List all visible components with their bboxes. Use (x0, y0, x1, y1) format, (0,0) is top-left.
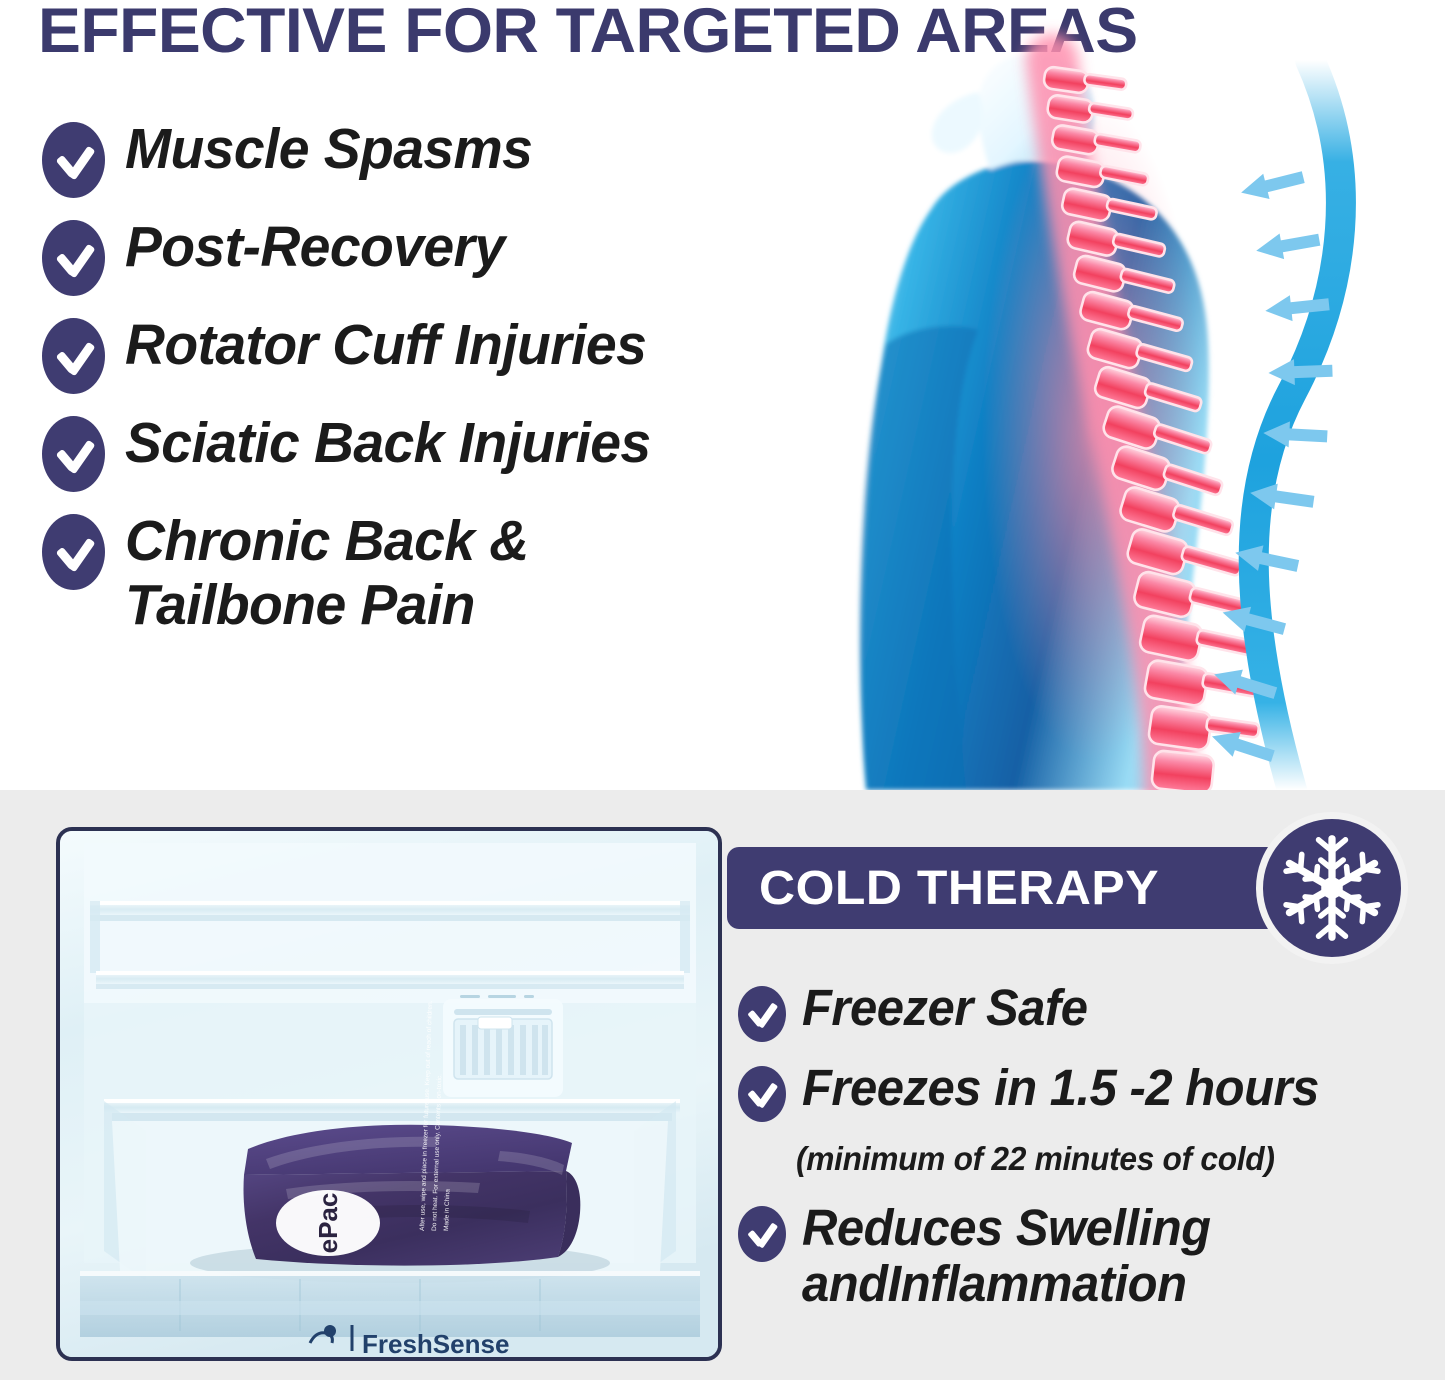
list-item: Chronic Back & Tailbone Pain (42, 510, 882, 638)
curve-band (1254, 60, 1341, 790)
cold-feature-list: Freezer Safe Freezes in 1.5 -2 hours (mi… (738, 980, 1438, 1312)
svg-text:Made in China: Made in China (443, 1189, 451, 1232)
spine-anatomy-illustration (840, 0, 1445, 790)
feature-label: Reduces Swelling andInflammation (802, 1200, 1211, 1312)
benefit-label: Muscle Spasms (125, 118, 532, 182)
snowflake-icon (1256, 812, 1408, 964)
benefit-list: Muscle Spasms Post-Recovery Rotator Cuff… (42, 118, 882, 642)
check-circle-icon (42, 122, 105, 198)
list-item: Freezer Safe (738, 980, 1438, 1042)
effective-areas-panel: EFFECTIVE FOR TARGETED AREAS Muscle Spas… (0, 0, 1445, 790)
check-circle-icon (738, 1206, 786, 1262)
list-item: Sciatic Back Injuries (42, 412, 882, 492)
check-circle-icon (42, 318, 105, 394)
freezer-vent (443, 995, 563, 1097)
feature-subtext: (minimum of 22 minutes of cold) (796, 1140, 1412, 1178)
check-circle-icon (42, 220, 105, 296)
benefit-label: Rotator Cuff Injuries (125, 314, 646, 378)
benefit-label: Chronic Back & Tailbone Pain (125, 510, 529, 638)
list-item: Muscle Spasms (42, 118, 882, 198)
benefit-label: Sciatic Back Injuries (125, 412, 651, 476)
list-item: Rotator Cuff Injuries (42, 314, 882, 394)
freezer-photo: ePac After use, wipe and place in freeze… (56, 827, 722, 1361)
feature-label: Freezer Safe (802, 980, 1087, 1036)
cold-therapy-banner: COLD THERAPY (727, 847, 1287, 929)
check-circle-icon (738, 986, 786, 1042)
cold-therapy-label: COLD THERAPY (759, 861, 1159, 916)
check-circle-icon (42, 514, 105, 590)
product-logo-text: ePac (313, 1193, 343, 1254)
check-circle-icon (738, 1066, 786, 1122)
feature-label: Freezes in 1.5 -2 hours (802, 1060, 1319, 1116)
benefit-label: Post-Recovery (125, 216, 505, 280)
check-circle-icon (42, 416, 105, 492)
list-item: Post-Recovery (42, 216, 882, 296)
list-item: Reduces Swelling andInflammation (738, 1200, 1438, 1312)
list-item: Freezes in 1.5 -2 hours (738, 1060, 1438, 1122)
cold-therapy-panel: ePac After use, wipe and place in freeze… (0, 790, 1445, 1380)
svg-text:FreshSense: FreshSense (362, 1329, 509, 1359)
